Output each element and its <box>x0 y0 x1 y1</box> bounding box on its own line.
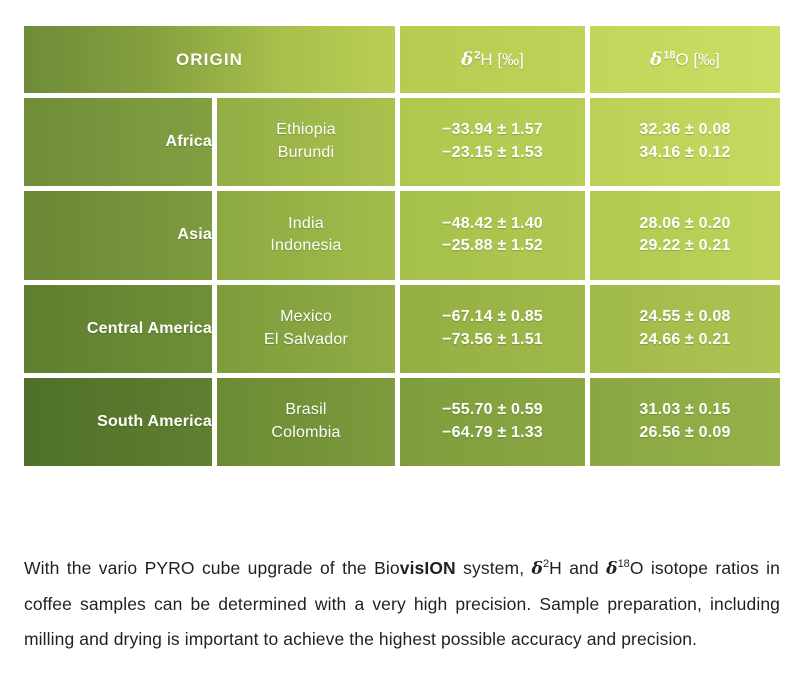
table-header-row: ORIGIN δ2H [‰] δ18O [‰] <box>24 26 780 98</box>
region-label: Central America <box>87 320 212 337</box>
region-label: South America <box>97 413 212 430</box>
paragraph-brand-vision: visION <box>400 558 456 578</box>
region-label: Asia <box>177 226 212 243</box>
delta-18o-value: 24.55 ± 0.08 <box>590 306 780 329</box>
cell-region: Central America <box>24 285 217 378</box>
cell-countries: India Indonesia <box>217 191 400 284</box>
country-label: Indonesia <box>217 235 395 258</box>
cell-delta-18o: 24.55 ± 0.08 24.66 ± 0.21 <box>590 285 780 378</box>
cell-delta-18o: 31.03 ± 0.15 26.56 ± 0.09 <box>590 378 780 466</box>
delta-18o-value: 34.16 ± 0.12 <box>590 142 780 165</box>
paragraph-segment-3: H and <box>549 558 606 578</box>
delta-2h-value: −55.70 ± 0.59 <box>400 399 585 422</box>
column-header-delta-2h-unit: H [‰] <box>480 50 523 69</box>
isotope-ratio-table: ORIGIN δ2H [‰] δ18O [‰] Africa Ethiopia … <box>24 26 780 466</box>
delta-symbol-2h: δ <box>461 49 474 70</box>
delta-symbol-2h-inline: δ <box>532 559 543 579</box>
table-row: Africa Ethiopia Burundi −33.94 ± 1.57 −2… <box>24 98 780 191</box>
delta-18o-value: 31.03 ± 0.15 <box>590 399 780 422</box>
delta-18o-value: 32.36 ± 0.08 <box>590 119 780 142</box>
cell-delta-2h: −55.70 ± 0.59 −64.79 ± 1.33 <box>400 378 590 466</box>
column-header-origin: ORIGIN <box>24 26 400 98</box>
cell-region: Asia <box>24 191 217 284</box>
cell-region: South America <box>24 378 217 466</box>
country-label: Colombia <box>217 422 395 445</box>
delta-18o-value: 24.66 ± 0.21 <box>590 329 780 352</box>
delta-2h-value: −73.56 ± 1.51 <box>400 329 585 352</box>
table-row: Asia India Indonesia −48.42 ± 1.40 −25.8… <box>24 191 780 284</box>
delta-symbol-18o-inline: δ <box>606 559 617 579</box>
delta-2h-value: −25.88 ± 1.52 <box>400 235 585 258</box>
delta-2h-value: −48.42 ± 1.40 <box>400 213 585 236</box>
paragraph-segment-1: With the vario PYRO cube upgrade of the … <box>24 558 400 578</box>
delta-2h-value: −23.15 ± 1.53 <box>400 142 585 165</box>
column-header-delta-18o-unit: O [‰] <box>675 50 719 69</box>
cell-region: Africa <box>24 98 217 191</box>
table-row: Central America Mexico El Salvador −67.1… <box>24 285 780 378</box>
delta-2h-value: −67.14 ± 0.85 <box>400 306 585 329</box>
paragraph-segment-2: system, <box>456 558 532 578</box>
delta-2h-value: −64.79 ± 1.33 <box>400 422 585 445</box>
cell-delta-18o: 28.06 ± 0.20 29.22 ± 0.21 <box>590 191 780 284</box>
body-paragraph: With the vario PYRO cube upgrade of the … <box>24 551 780 657</box>
region-label: Africa <box>165 133 212 150</box>
column-header-origin-label: ORIGIN <box>176 50 243 69</box>
delta-18o-value: 26.56 ± 0.09 <box>590 422 780 445</box>
column-header-delta-18o: δ18O [‰] <box>590 26 780 98</box>
delta-18o-value: 29.22 ± 0.21 <box>590 235 780 258</box>
cell-delta-2h: −33.94 ± 1.57 −23.15 ± 1.53 <box>400 98 590 191</box>
column-header-delta-2h: δ2H [‰] <box>400 26 590 98</box>
country-label: El Salvador <box>217 329 395 352</box>
superscript-18-inline: 18 <box>618 558 630 570</box>
country-label: Burundi <box>217 142 395 165</box>
cell-countries: Ethiopia Burundi <box>217 98 400 191</box>
delta-2h-value: −33.94 ± 1.57 <box>400 119 585 142</box>
cell-delta-18o: 32.36 ± 0.08 34.16 ± 0.12 <box>590 98 780 191</box>
delta-18o-value: 28.06 ± 0.20 <box>590 213 780 236</box>
country-label: Mexico <box>217 306 395 329</box>
cell-countries: Brasil Colombia <box>217 378 400 466</box>
country-label: Brasil <box>217 399 395 422</box>
cell-delta-2h: −48.42 ± 1.40 −25.88 ± 1.52 <box>400 191 590 284</box>
country-label: India <box>217 213 395 236</box>
country-label: Ethiopia <box>217 119 395 142</box>
table-row: South America Brasil Colombia −55.70 ± 0… <box>24 378 780 466</box>
superscript-18: 18 <box>663 49 675 61</box>
cell-delta-2h: −67.14 ± 0.85 −73.56 ± 1.51 <box>400 285 590 378</box>
cell-countries: Mexico El Salvador <box>217 285 400 378</box>
delta-symbol-18o: δ <box>650 49 663 70</box>
